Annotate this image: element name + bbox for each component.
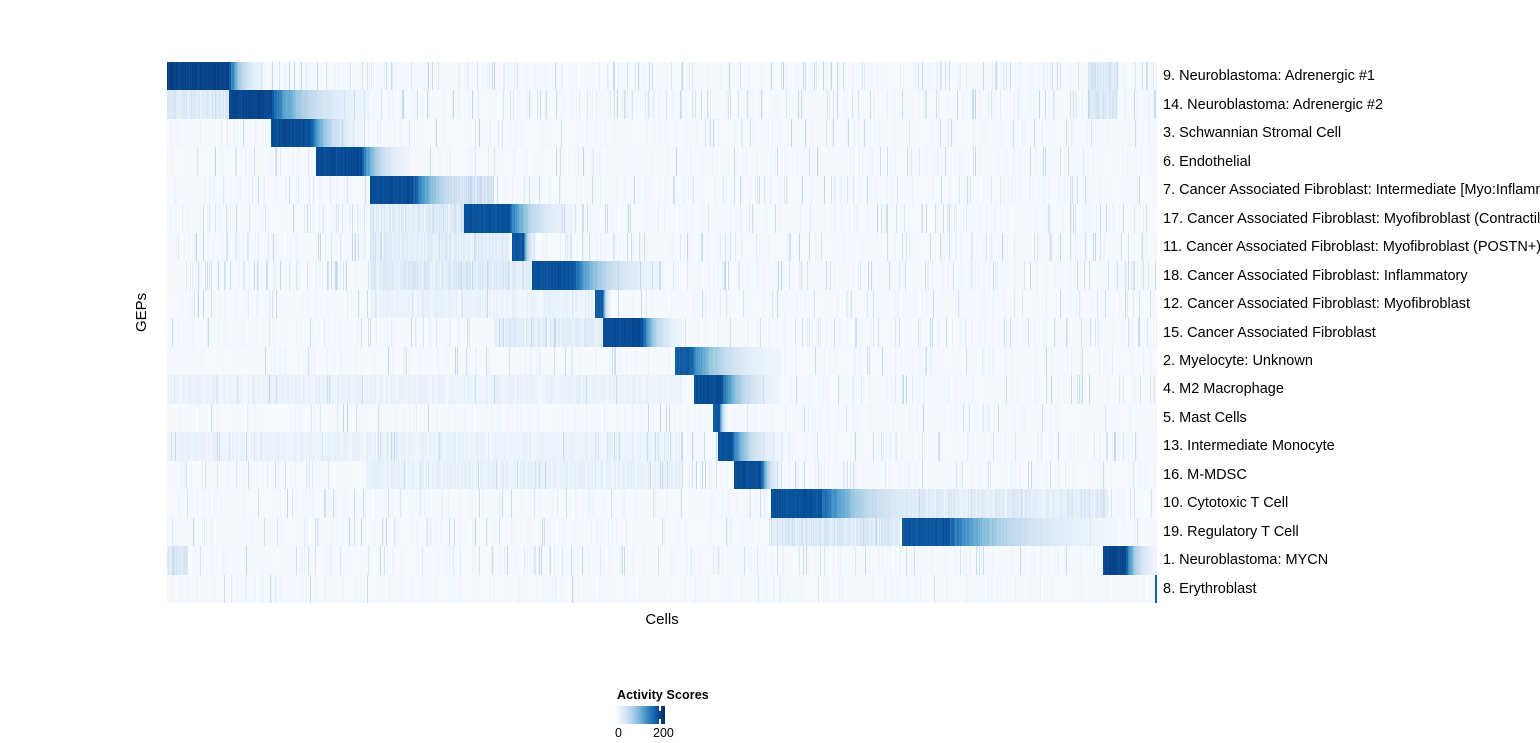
heatmap-row (167, 90, 1157, 119)
heatmap-row-canvas (167, 90, 1157, 119)
heatmap-row (167, 176, 1157, 204)
heatmap-row-label: 7. Cancer Associated Fibroblast: Interme… (1163, 183, 1540, 198)
heatmap-row (167, 204, 1157, 233)
y-axis-label: GEPs (133, 308, 150, 332)
heatmap-row-label: 15. Cancer Associated Fibroblast (1163, 326, 1376, 341)
colorbar-tick-min: 0 (615, 726, 622, 740)
heatmap-row-canvas (167, 347, 1157, 375)
heatmap-row-label: 11. Cancer Associated Fibroblast: Myofib… (1163, 240, 1540, 255)
heatmap-row-label: 2. Myelocyte: Unknown (1163, 354, 1313, 369)
heatmap-row (167, 432, 1157, 461)
heatmap-row (167, 62, 1157, 90)
heatmap-row (167, 147, 1157, 176)
heatmap-row-label: 14. Neuroblastoma: Adrenergic #2 (1163, 98, 1383, 113)
heatmap-row-labels: 9. Neuroblastoma: Adrenergic #114. Neuro… (1163, 62, 1540, 603)
heatmap-row-canvas (167, 233, 1157, 261)
heatmap-row (167, 375, 1157, 404)
heatmap-row (167, 119, 1157, 147)
heatmap-row-canvas (167, 318, 1157, 347)
heatmap-row-label: 4. M2 Macrophage (1163, 382, 1284, 397)
heatmap-row (167, 233, 1157, 261)
heatmap-row (167, 546, 1157, 575)
heatmap-row-canvas (167, 147, 1157, 176)
heatmap-row-label: 12. Cancer Associated Fibroblast: Myofib… (1163, 297, 1470, 312)
heatmap-row (167, 404, 1157, 432)
heatmap-row (167, 489, 1157, 518)
heatmap-row-label: 5. Mast Cells (1163, 411, 1247, 426)
heatmap-row-canvas (167, 489, 1157, 518)
heatmap-row-canvas (167, 119, 1157, 147)
heatmap-row (167, 518, 1157, 546)
heatmap-row (167, 461, 1157, 489)
heatmap-row-canvas (167, 404, 1157, 432)
heatmap-row-canvas (167, 575, 1157, 603)
colorbar-tick-labels: 0 200 (615, 726, 735, 742)
heatmap-row-canvas (167, 461, 1157, 489)
colorbar-gradient (615, 706, 665, 724)
heatmap-row-label: 13. Intermediate Monocyte (1163, 439, 1335, 454)
colorbar-legend: Activity Scores 0 200 (615, 688, 815, 742)
heatmap-row-canvas (167, 375, 1157, 404)
heatmap-row-label: 9. Neuroblastoma: Adrenergic #1 (1163, 69, 1375, 84)
heatmap-row (167, 347, 1157, 375)
heatmap-row-label: 18. Cancer Associated Fibroblast: Inflam… (1163, 269, 1468, 284)
colorbar-bar-wrapper (615, 706, 665, 724)
heatmap-row (167, 575, 1157, 603)
heatmap-row-label: 17. Cancer Associated Fibroblast: Myofib… (1163, 212, 1540, 227)
heatmap-row-canvas (167, 290, 1157, 318)
heatmap-row-label: 8. Erythroblast (1163, 582, 1257, 597)
x-axis-label: Cells (167, 611, 1157, 628)
heatmap-row-label: 6. Endothelial (1163, 155, 1251, 170)
colorbar-tick-top (659, 706, 661, 711)
heatmap-row-canvas (167, 432, 1157, 461)
colorbar-title: Activity Scores (617, 688, 815, 702)
heatmap-row (167, 261, 1157, 290)
heatmap-row-canvas (167, 261, 1157, 290)
heatmap-row-label: 3. Schwannian Stromal Cell (1163, 126, 1341, 141)
heatmap-row-label: 1. Neuroblastoma: MYCN (1163, 553, 1328, 568)
heatmap-row (167, 290, 1157, 318)
heatmap-row-canvas (167, 204, 1157, 233)
heatmap-row-canvas (167, 62, 1157, 90)
heatmap-row-canvas (167, 176, 1157, 204)
heatmap-row (167, 318, 1157, 347)
heatmap-row-label: 19. Regulatory T Cell (1163, 525, 1299, 540)
heatmap-row-canvas (167, 546, 1157, 575)
heatmap-row-label: 16. M-MDSC (1163, 468, 1247, 483)
figure-root: GEPs Cells 9. Neuroblastoma: Adrenergic … (0, 0, 1540, 743)
colorbar-tick-max: 200 (653, 726, 674, 740)
heatmap-row-label: 10. Cytotoxic T Cell (1163, 496, 1288, 511)
heatmap-row-canvas (167, 518, 1157, 546)
colorbar-tick-bottom (659, 719, 661, 724)
heatmap-panel (167, 62, 1157, 603)
